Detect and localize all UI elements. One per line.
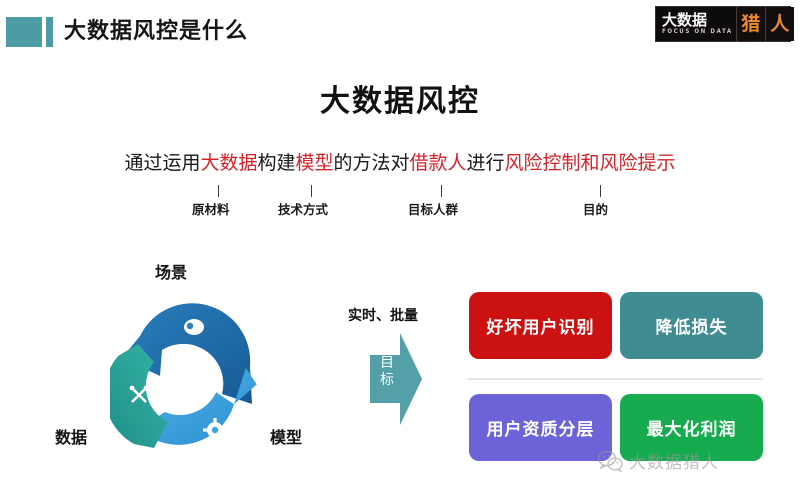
annotation-tick-3: [600, 185, 601, 197]
logo-english-tagline: FOCUS ON DATA: [662, 27, 733, 36]
cycle-diagram-svg: [110, 296, 262, 462]
page-title: 大数据风控是什么: [64, 17, 248, 47]
outcome-card-reduce-loss[interactable]: 降低损失: [620, 292, 763, 359]
outcome-card-maximize-profit[interactable]: 最大化利润: [620, 394, 763, 461]
cycle-label-data: 数据: [55, 424, 87, 448]
annotation-tick-0: [218, 185, 219, 197]
cycle-label-scene: 场景: [155, 259, 187, 283]
eye-icon: [184, 319, 204, 335]
logo-chinese-text: 大数据: [662, 13, 733, 28]
definition-sentence: 通过运用大数据构建模型的方法对借款人进行风险控制和风险提示: [0, 148, 800, 175]
cycle-diagram: [110, 296, 262, 462]
sentence-segment-6: 进行: [467, 152, 505, 174]
annotation-tick-2: [441, 185, 442, 197]
logo-char-1: 猎: [741, 15, 760, 34]
annotation-tick-1: [311, 185, 312, 197]
annotation-label-1: 技术方式: [278, 199, 328, 218]
sentence-segment-5: 借款人: [410, 152, 467, 174]
arrow-top-label: 实时、批量: [348, 305, 418, 325]
outcome-divider: [468, 378, 763, 380]
outcome-card-user-tiering[interactable]: 用户资质分层: [469, 394, 612, 461]
logo-char-box-1: 猎: [736, 7, 765, 41]
outcome-card-bad-user-detection[interactable]: 好坏用户识别: [469, 292, 612, 359]
slide-header: 大数据风控是什么 大数据 FOCUS ON DATA 猎 人: [0, 0, 800, 62]
slide-root: 大数据风控是什么 大数据 FOCUS ON DATA 猎 人 大数据风控 通过运…: [0, 0, 800, 500]
cycle-label-model: 模型: [270, 424, 302, 448]
sentence-segment-7: 风险控制和风险提示: [505, 152, 676, 174]
logo-char-2: 人: [770, 15, 789, 34]
sentence-segment-4: 的方法对: [334, 152, 410, 174]
sentence-segment-3: 模型: [295, 152, 333, 174]
brand-logo: 大数据 FOCUS ON DATA 猎 人: [655, 6, 791, 42]
sentence-segment-0: 通过运用: [124, 152, 200, 174]
annotation-label-2: 目标人群: [408, 199, 458, 218]
main-heading: 大数据风控: [0, 76, 800, 120]
sentence-segment-1: 大数据: [200, 152, 257, 174]
annotation-label-3: 目的: [583, 199, 608, 218]
logo-char-boxes: 猎 人: [736, 7, 794, 41]
logo-wordmark: 大数据 FOCUS ON DATA: [656, 13, 733, 36]
logo-char-box-2: 人: [765, 7, 794, 41]
goal-arrow-label: 目标: [376, 355, 398, 389]
sentence-segment-2: 构建: [257, 152, 295, 174]
header-accent-bar: [46, 17, 53, 47]
annotation-label-0: 原材料: [192, 199, 230, 218]
header-accent-block: [6, 17, 42, 47]
